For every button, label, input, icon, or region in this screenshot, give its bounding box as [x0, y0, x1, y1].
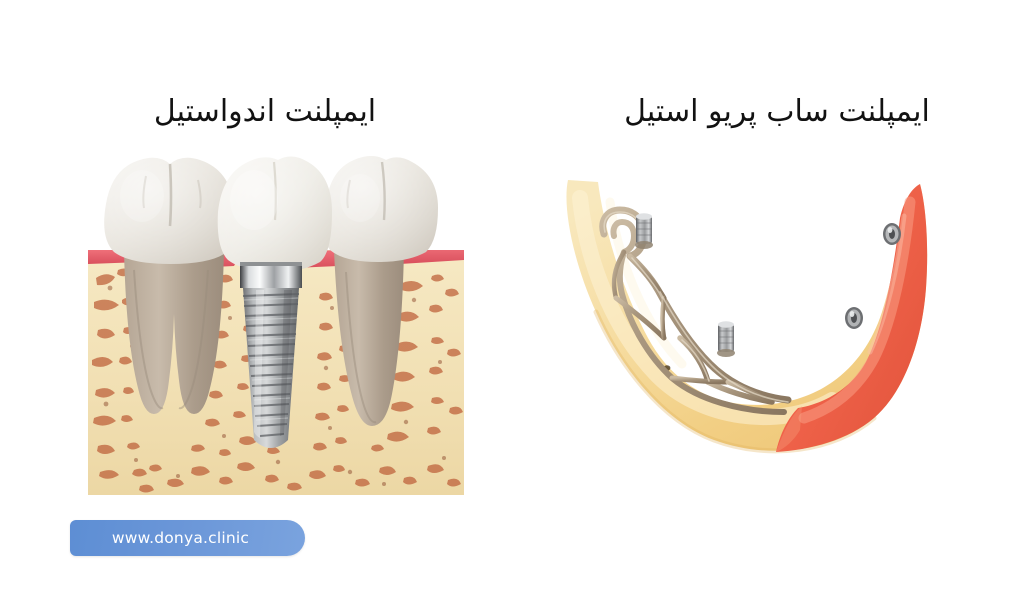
panel-title-left: ایمپلنت اندواستیل: [0, 92, 530, 132]
watermark-text: www.donya.clinic: [70, 520, 305, 556]
subperiosteal-implant-illustration: [552, 172, 944, 472]
panel-title-right: ایمپلنت ساب پریو استیل: [530, 92, 1024, 132]
abutment-post-1: [635, 213, 653, 249]
endosteal-implant-illustration: [88, 150, 464, 495]
abutment-post-4: [845, 307, 863, 329]
abutment-post-3: [883, 223, 901, 245]
abutment-post-2: [717, 321, 735, 357]
watermark-badge[interactable]: www.donya.clinic: [70, 520, 305, 556]
metal-framework: [603, 210, 788, 412]
page-canvas: ایمپلنت اندواستیل ایمپلنت ساب پریو استیل: [0, 0, 1024, 614]
implant-crown: [218, 156, 332, 272]
